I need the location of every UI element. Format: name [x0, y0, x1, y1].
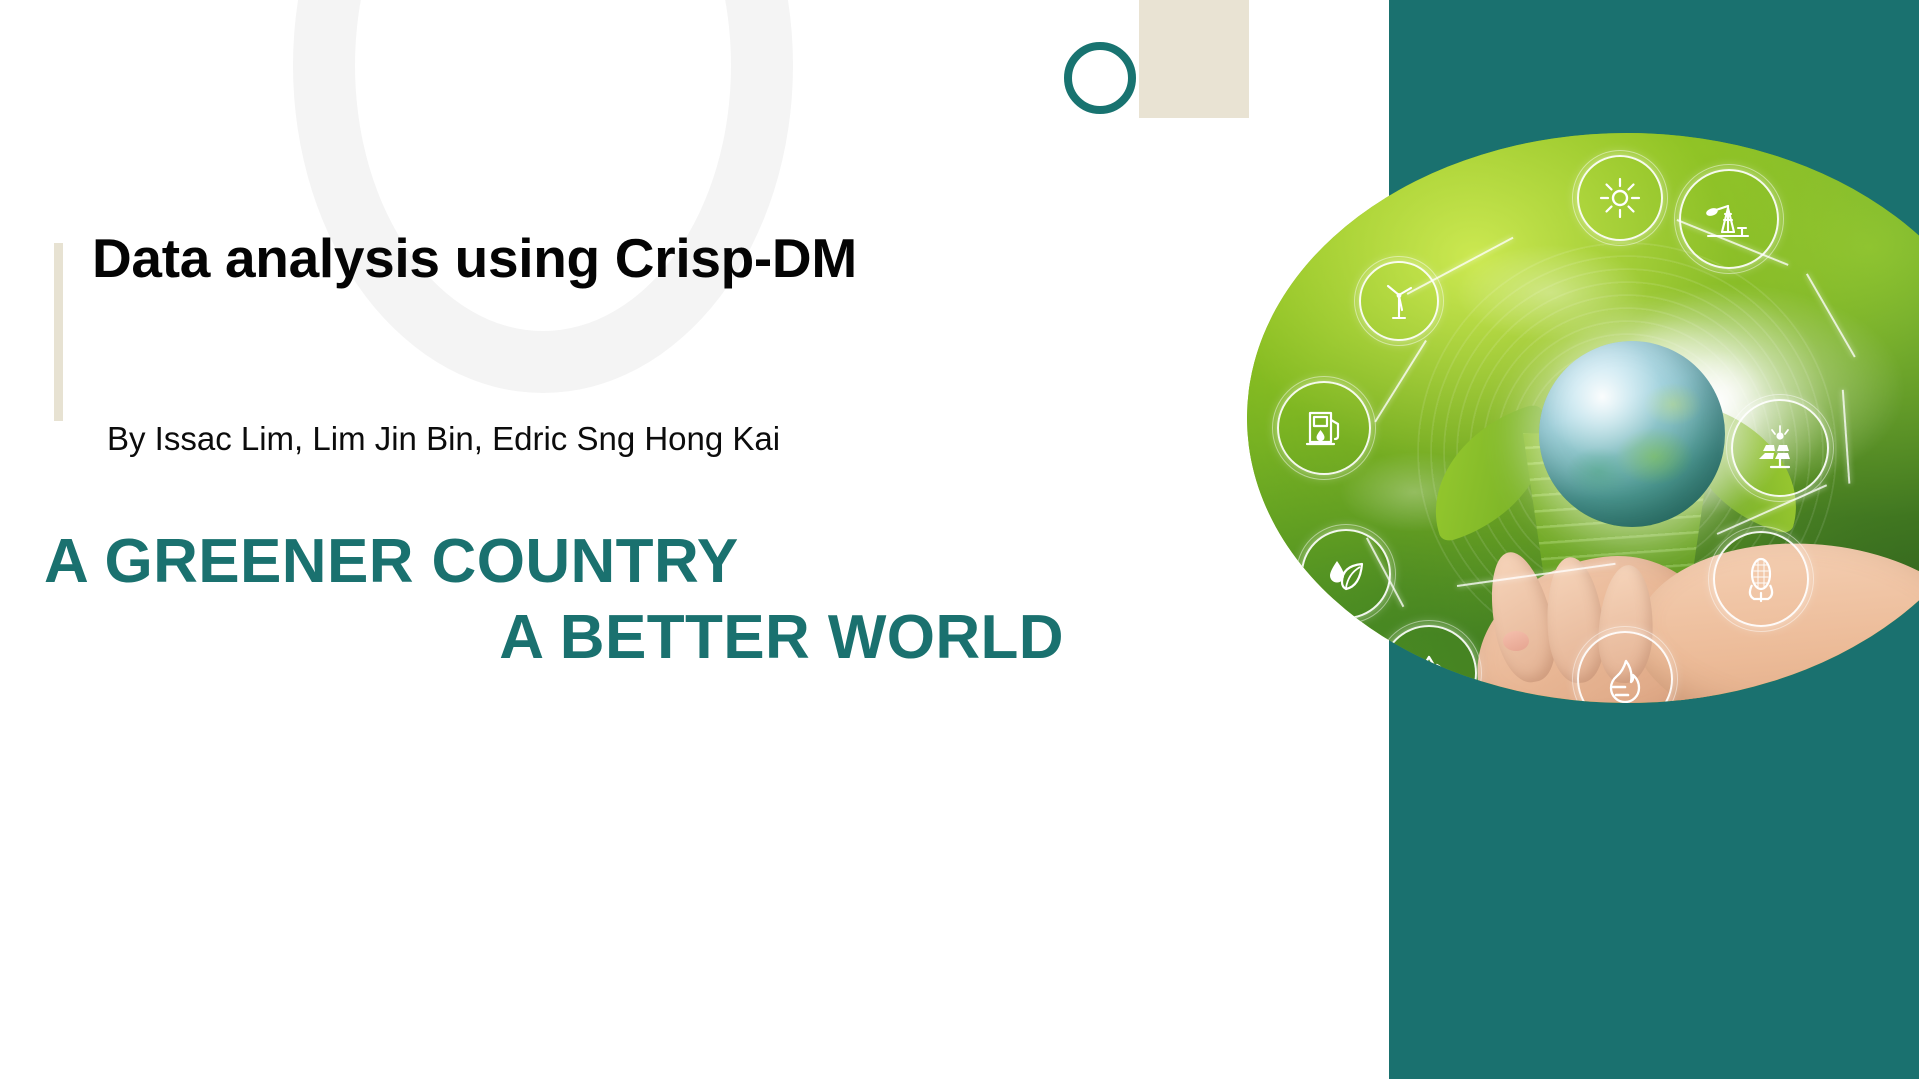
- corn-icon: [1713, 531, 1809, 627]
- earth-globe: [1539, 341, 1725, 527]
- beige-vertical-accent-bar: [54, 243, 63, 421]
- slide-headline: A GREENER COUNTRY A BETTER WORLD: [44, 524, 1064, 675]
- fuel-pump-icon: [1277, 381, 1371, 475]
- solar-panel-icon: [1731, 399, 1829, 497]
- sun-icon: [1577, 155, 1663, 241]
- slide-byline: By Issac Lim, Lim Jin Bin, Edric Sng Hon…: [107, 420, 780, 458]
- beige-square-accent: [1139, 0, 1249, 118]
- headline-line-1: A GREENER COUNTRY: [44, 524, 1064, 600]
- recycle-icon: [1381, 625, 1477, 703]
- slide-title: Data analysis using Crisp-DM: [92, 226, 857, 290]
- fingernail-shape: [1503, 631, 1529, 651]
- water-drop-leaf-icon: [1301, 529, 1391, 619]
- headline-line-2: A BETTER WORLD: [44, 600, 1064, 676]
- flame-icon: [1577, 631, 1673, 703]
- hero-image-ellipse: [1247, 133, 1919, 703]
- presentation-slide: Data analysis using Crisp-DM By Issac Li…: [0, 0, 1919, 1079]
- background-ring-decoration: [293, 0, 793, 393]
- wind-turbine-icon: [1359, 261, 1439, 341]
- oil-pump-icon: [1679, 169, 1779, 269]
- teal-circle-outline-decoration: [1064, 42, 1136, 114]
